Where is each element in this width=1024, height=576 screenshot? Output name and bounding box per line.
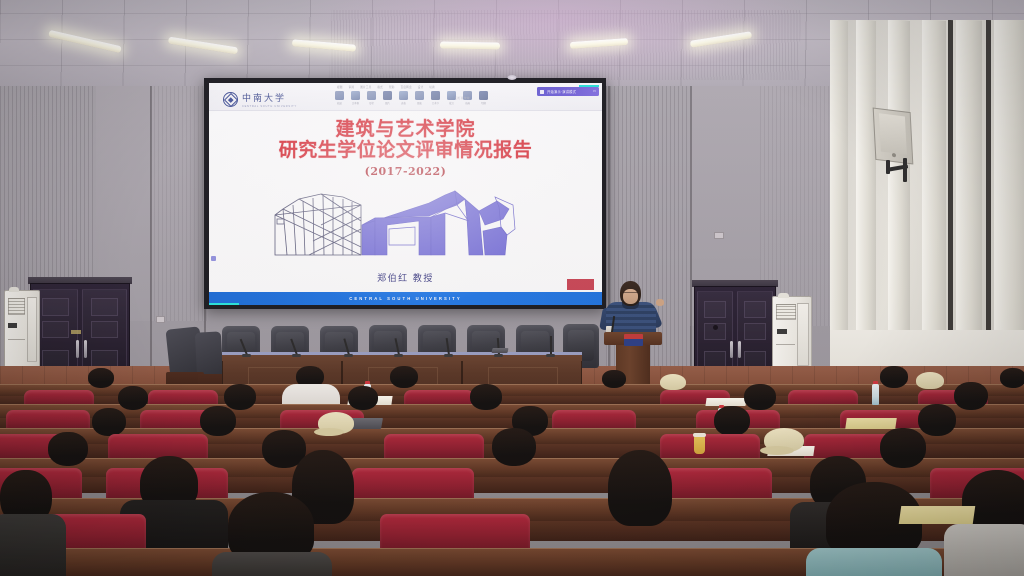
ribbon-tool-wordart[interactable]: 艺术字 (431, 91, 440, 105)
audience-cap (660, 374, 686, 390)
play-icon (540, 90, 544, 94)
presenter-hand (656, 299, 664, 306)
audience-head (954, 382, 988, 410)
ribbon-tool-transition[interactable]: 切换 (479, 91, 488, 105)
projector-hotspot (508, 75, 517, 80)
transition-icon (479, 91, 488, 100)
wall-outlet (156, 316, 165, 323)
paste-icon (335, 91, 344, 100)
audience-cap (916, 372, 944, 389)
fluorescent-tube-light (440, 41, 500, 49)
slide-footer-banner-text: CENTRAL SOUTH UNIVERSITY (349, 296, 461, 301)
audience-seat (384, 434, 484, 460)
ribbon-tab[interactable]: 切换 (429, 85, 435, 89)
wordart-icon (431, 91, 440, 100)
slide-year-range: (2017-2022) (209, 165, 602, 178)
central-south-university-emblem-icon (223, 92, 238, 107)
slide-cyan-accent-left (209, 303, 239, 306)
audience-seat (660, 434, 760, 460)
audience-head (602, 370, 626, 388)
projected-slide[interactable]: 视图 审阅 图片工具 格式 帮助 百度网盘 设计 切换 粘贴 (209, 83, 602, 305)
audience-head (880, 366, 908, 388)
ribbon-tab[interactable]: 百度网盘 (401, 85, 412, 89)
audience-head-long (608, 450, 672, 526)
university-crest-plaque (624, 334, 643, 346)
audience-head (880, 428, 926, 468)
audience-head (200, 406, 236, 436)
notebook-on-desk (899, 506, 976, 524)
projection-screen-bezel: 视图 审阅 图片工具 格式 帮助 百度网盘 设计 切换 粘贴 (204, 78, 606, 309)
audience-head (918, 404, 956, 436)
audience-seat (108, 434, 208, 460)
wall-outlet (714, 232, 724, 239)
lecture-hall-photo: 视图 审阅 图片工具 格式 帮助 百度网盘 设计 切换 粘贴 (0, 0, 1024, 576)
audience-head (470, 384, 502, 410)
door-handle[interactable] (730, 341, 733, 358)
audience-head (390, 366, 418, 388)
audience-head (1000, 368, 1024, 388)
logo-chinese-name: 中南大学 (242, 91, 297, 104)
audience-head (92, 408, 126, 436)
ribbon-tool-picture[interactable]: 图片 (383, 91, 392, 105)
wall-ribbed-center-left (150, 86, 208, 321)
logo-english-name: CENTRAL SOUTH UNIVERSITY (242, 105, 297, 108)
abstract-architecture-line-drawing (269, 185, 547, 263)
slide-title-line1: 建筑与艺术学院 (209, 119, 602, 140)
slide-side-button[interactable] (211, 256, 216, 261)
ribbon-tab[interactable]: 审阅 (349, 85, 355, 89)
water-bottle (872, 384, 879, 405)
slide-title-block: 建筑与艺术学院 研究生学位论文评审情况报告 (2017-2022) (209, 119, 602, 178)
ribbon-tab[interactable]: 图片工具 (360, 85, 371, 89)
door-handle[interactable] (76, 340, 79, 358)
audience-seat (552, 410, 636, 430)
notebook-on-desk (845, 418, 897, 429)
coffee-cup (694, 436, 705, 454)
university-logo: 中南大学 CENTRAL SOUTH UNIVERSITY (223, 91, 297, 108)
audience-head (492, 428, 536, 466)
ribbon-tab[interactable]: 视图 (337, 85, 343, 89)
ribbon-tab[interactable]: 设计 (418, 85, 424, 89)
start-presentation-button[interactable]: 开始演示·演讲模式 F5 (537, 87, 599, 96)
glasses-icon (623, 292, 638, 296)
ribbon-tab-row[interactable]: 视图 审阅 图片工具 格式 帮助 百度网盘 设计 切换 (337, 85, 435, 89)
slide-presenter-name: 郑伯红 教授 (209, 271, 602, 284)
ribbon-tab[interactable]: 帮助 (389, 85, 395, 89)
audience-head (48, 432, 88, 466)
ribbon-tail-label: 幻灯片放映 (455, 96, 470, 100)
audience-head (88, 368, 114, 388)
ribbon-tool-chart[interactable]: 图表 (415, 91, 424, 105)
textbox-icon (351, 91, 360, 100)
laptop-on-panel-table (491, 348, 508, 353)
ribbon-tool-paste[interactable]: 粘贴 (335, 91, 344, 105)
audience-head (224, 384, 256, 410)
audience-head (714, 406, 750, 436)
shapes-icon (367, 91, 376, 100)
slide-title-line2: 研究生学位论文评审情况报告 (209, 140, 602, 161)
slide-footer-banner: CENTRAL SOUTH UNIVERSITY (209, 292, 602, 305)
door-handle[interactable] (84, 340, 87, 358)
audience-head (118, 386, 148, 410)
ribbon-tool-shapes[interactable]: 形状 (367, 91, 376, 105)
paper-on-desk (705, 398, 746, 406)
ribbon-tab[interactable]: 格式 (377, 85, 383, 89)
presenter-head (620, 281, 641, 306)
table-icon (399, 91, 408, 100)
ribbon-tool-table[interactable]: 表格 (399, 91, 408, 105)
audience-seat (352, 468, 474, 502)
audience-head (744, 384, 776, 410)
chart-icon (415, 91, 424, 100)
slide-red-accent-block (567, 279, 594, 290)
audience-seat (6, 410, 90, 430)
audience-head (348, 386, 378, 410)
picture-icon (383, 91, 392, 100)
door-handle[interactable] (738, 341, 741, 358)
ribbon-tool-textbox[interactable]: 文本框 (351, 91, 360, 105)
